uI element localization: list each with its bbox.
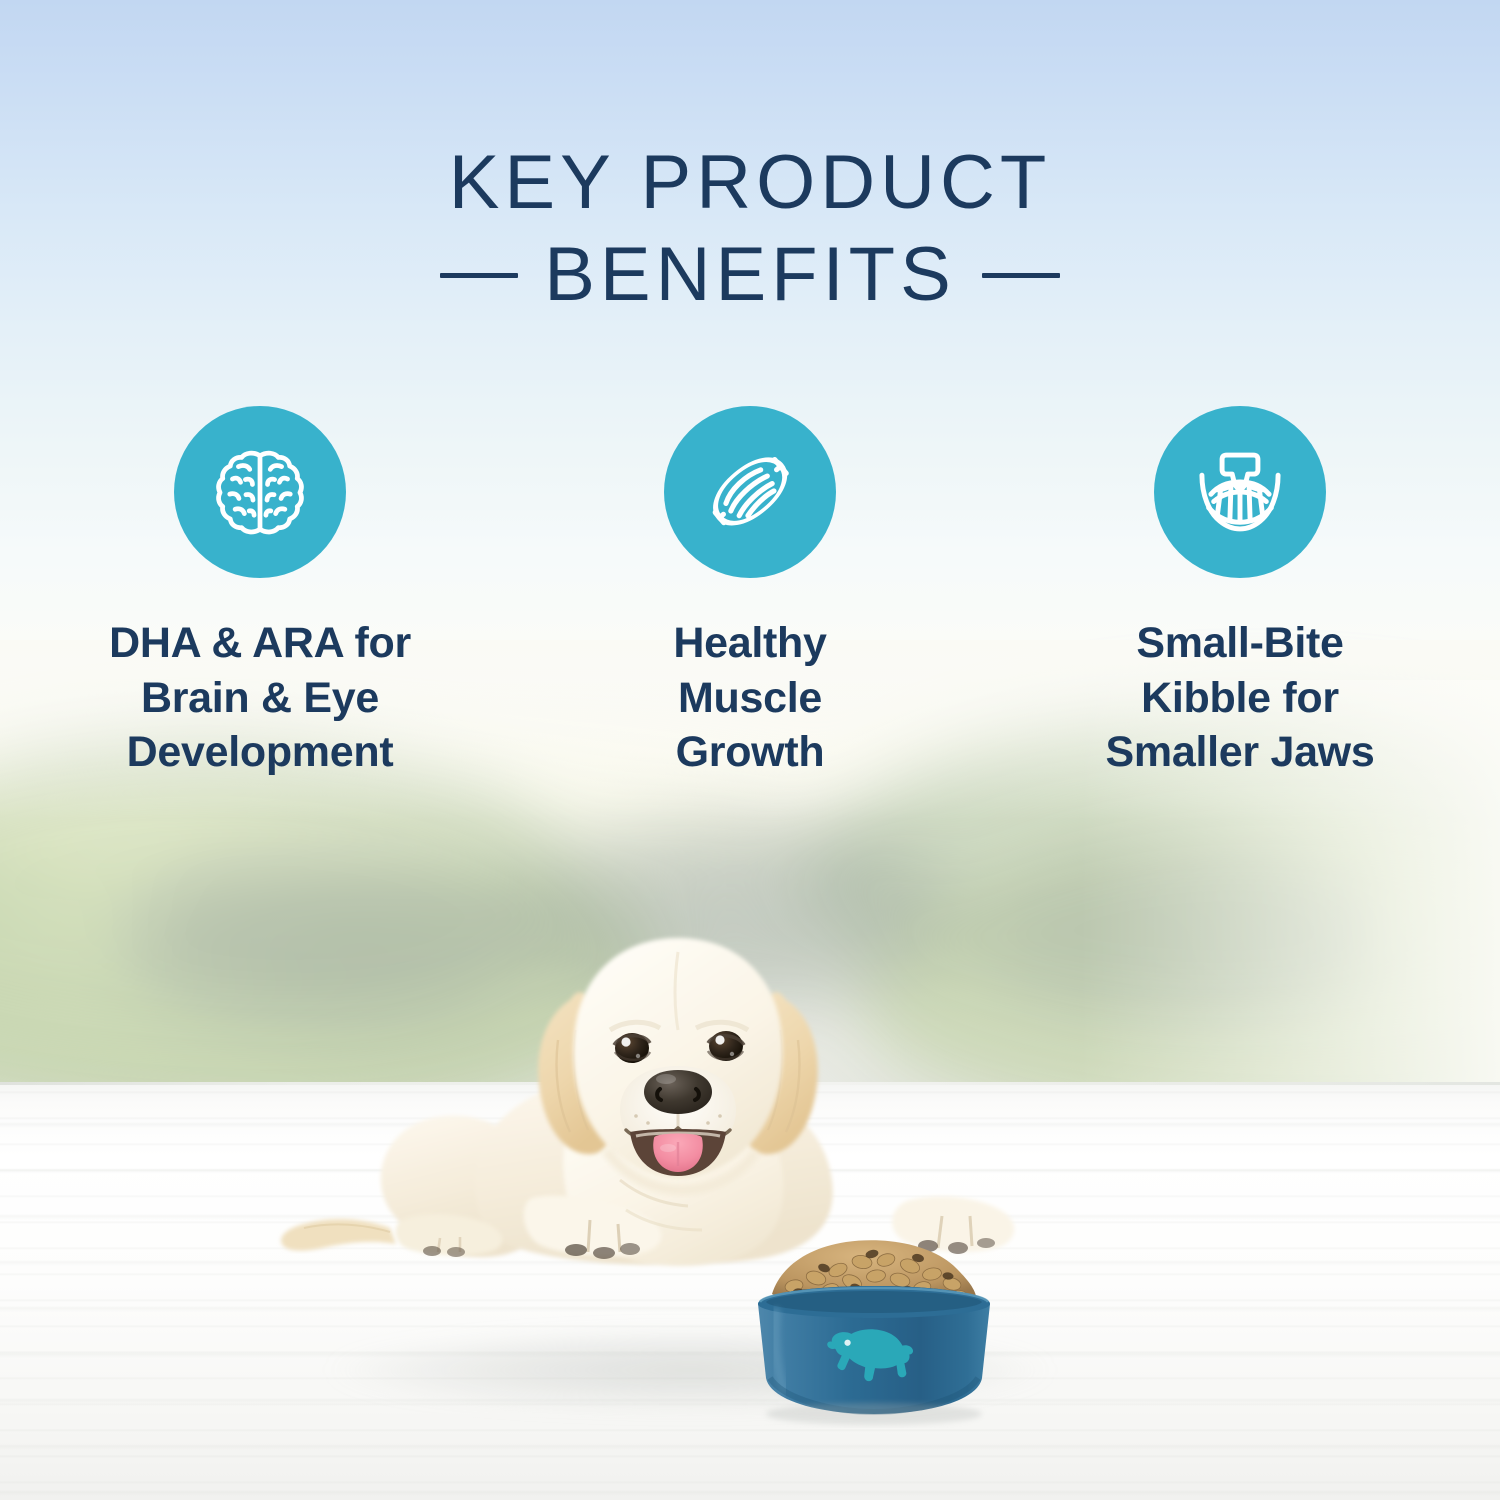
em-dash-right-icon: [982, 273, 1060, 278]
em-dash-left-icon: [440, 273, 518, 278]
benefit-label: Healthy Muscle Growth: [673, 616, 826, 780]
benefit-item-small-bite: Small-Bite Kibble for Smaller Jaws: [1040, 406, 1440, 780]
benefit-label: Small-Bite Kibble for Smaller Jaws: [1106, 616, 1375, 780]
muscle-fiber-icon: [664, 406, 836, 578]
brain-icon: [174, 406, 346, 578]
product-benefits-graphic: KEY PRODUCT BENEFITS: [0, 0, 1500, 1500]
title-line-2-row: BENEFITS: [0, 232, 1500, 318]
benefits-row: DHA & ARA for Brain & Eye Development: [60, 406, 1440, 780]
dog-food-bowl: [750, 1228, 998, 1428]
benefit-item-muscle: Healthy Muscle Growth: [550, 406, 950, 780]
benefit-label: DHA & ARA for Brain & Eye Development: [109, 616, 411, 780]
page-title: KEY PRODUCT BENEFITS: [0, 140, 1500, 318]
title-line-1: KEY PRODUCT: [0, 140, 1500, 226]
benefit-item-dha-ara: DHA & ARA for Brain & Eye Development: [60, 406, 460, 780]
jaw-teeth-icon: [1154, 406, 1326, 578]
title-line-2: BENEFITS: [544, 232, 956, 318]
